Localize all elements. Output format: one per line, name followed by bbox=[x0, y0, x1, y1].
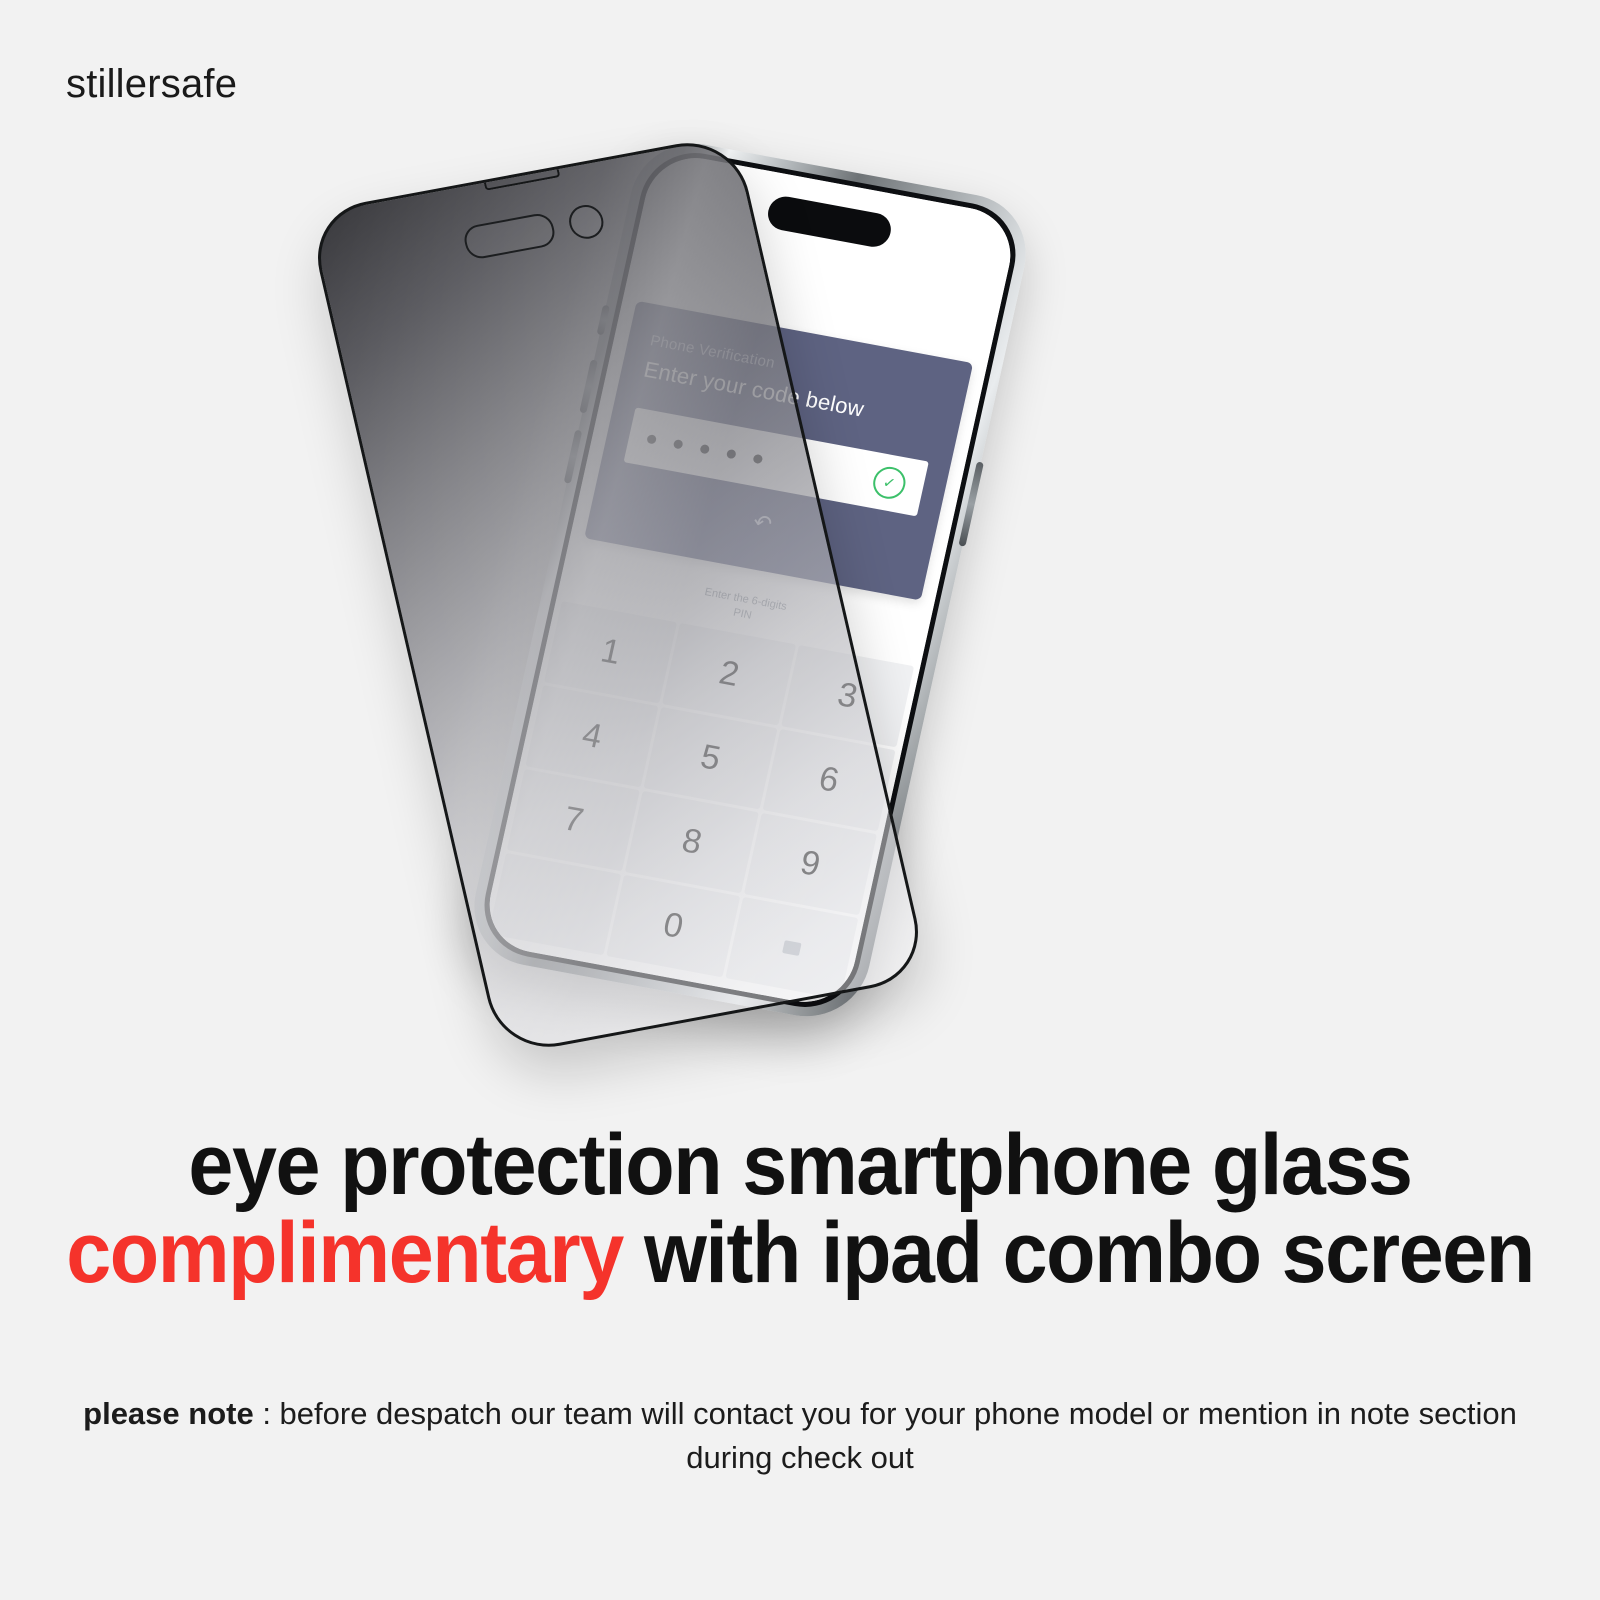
protector-cutouts bbox=[461, 202, 606, 261]
please-note-text: please note : before despatch our team w… bbox=[0, 1392, 1600, 1480]
page-headline: eye protection smartphone glass complime… bbox=[48, 1122, 1552, 1297]
please-note-separator: : bbox=[254, 1396, 280, 1431]
please-note-label: please note bbox=[83, 1396, 254, 1431]
speaker-pill-cutout-icon bbox=[461, 211, 557, 261]
camera-circle-cutout-icon bbox=[566, 202, 607, 241]
protector-top-notch bbox=[483, 166, 560, 191]
green-check-shield-icon: ✓ bbox=[870, 464, 908, 501]
brand-logo: stillersafe bbox=[66, 62, 237, 107]
product-hero-image: Phone Verification Enter your code below bbox=[0, 130, 1600, 1090]
please-note-body-line1: before despatch our team will contact yo… bbox=[280, 1396, 1309, 1431]
headline-line-1: eye protection smartphone glass bbox=[48, 1122, 1552, 1210]
hero-composition: Phone Verification Enter your code below bbox=[430, 150, 1120, 1050]
headline-line-2-rest: with ipad combo screen bbox=[623, 1205, 1534, 1301]
headline-line-2: complimentary with ipad combo screen bbox=[48, 1210, 1552, 1298]
headline-highlight-complimentary: complimentary bbox=[66, 1205, 623, 1301]
